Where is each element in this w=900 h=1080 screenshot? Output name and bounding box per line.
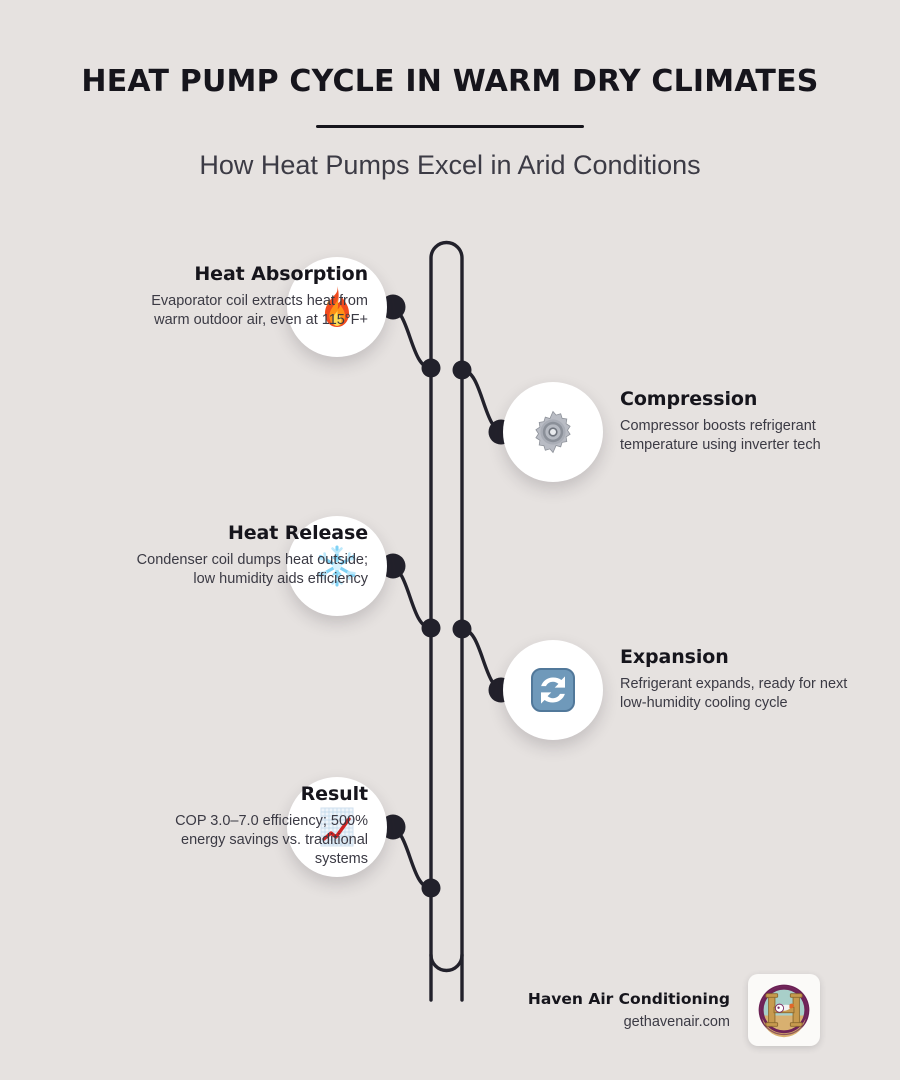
step-heat-absorption[interactable]: Heat Absorption Evaporator coil extracts… xyxy=(0,257,900,357)
node-compression-rail xyxy=(453,361,472,380)
step-heat-release[interactable]: Heat Release Condenser coil dumps heat o… xyxy=(0,516,900,616)
step-body-heat-absorption: Evaporator coil extracts heat from warm … xyxy=(128,292,368,330)
step-text-compression: Compression Compressor boosts refrigeran… xyxy=(620,388,870,455)
step-compression[interactable]: Compression Compressor boosts refrigeran… xyxy=(0,382,900,482)
step-icon-bubble-compression xyxy=(503,382,603,482)
rail-bottom-cap xyxy=(431,955,462,970)
step-text-heat-absorption: Heat Absorption Evaporator coil extracts… xyxy=(128,263,368,330)
node-expansion-rail xyxy=(453,620,472,639)
brand-logo xyxy=(748,974,820,1046)
step-text-expansion: Expansion Refrigerant expands, ready for… xyxy=(620,646,870,713)
gear-icon xyxy=(529,408,577,456)
brand-name: Haven Air Conditioning xyxy=(528,990,730,1008)
page-title: Heat Pump Cycle in Warm Dry Climates xyxy=(0,0,900,99)
step-heading-heat-release: Heat Release xyxy=(128,522,368,544)
step-body-expansion: Refrigerant expands, ready for next low-… xyxy=(620,675,870,713)
footer-text: Haven Air Conditioning gethavenair.com xyxy=(528,990,730,1030)
step-heading-compression: Compression xyxy=(620,388,870,410)
step-expansion[interactable]: Expansion Refrigerant expands, ready for… xyxy=(0,640,900,740)
refresh-cycle-icon xyxy=(529,666,577,714)
step-text-result: Result COP 3.0–7.0 efficiency; 500% ener… xyxy=(128,783,368,869)
node-heat-absorption-rail xyxy=(422,359,441,378)
step-heading-result: Result xyxy=(128,783,368,805)
step-icon-bubble-expansion xyxy=(503,640,603,740)
step-heading-expansion: Expansion xyxy=(620,646,870,668)
step-result[interactable]: Result COP 3.0–7.0 efficiency; 500% ener… xyxy=(0,777,900,877)
brand-website[interactable]: gethavenair.com xyxy=(528,1014,730,1030)
step-body-heat-release: Condenser coil dumps heat outside; low h… xyxy=(128,551,368,589)
page-subtitle: How Heat Pumps Excel in Arid Conditions xyxy=(0,128,900,181)
header: Heat Pump Cycle in Warm Dry Climates How… xyxy=(0,0,900,181)
node-heat-release-rail xyxy=(422,619,441,638)
node-result-rail xyxy=(422,879,441,898)
step-body-result: COP 3.0–7.0 efficiency; 500% energy savi… xyxy=(128,812,368,869)
footer: Haven Air Conditioning gethavenair.com xyxy=(500,966,820,1054)
haven-air-logo-icon xyxy=(755,981,813,1039)
step-text-heat-release: Heat Release Condenser coil dumps heat o… xyxy=(128,522,368,589)
step-heading-heat-absorption: Heat Absorption xyxy=(128,263,368,285)
step-body-compression: Compressor boosts refrigerant temperatur… xyxy=(620,417,870,455)
